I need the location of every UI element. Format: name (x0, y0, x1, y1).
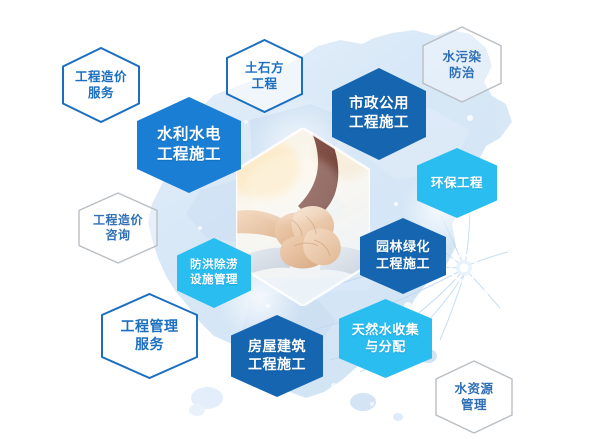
infographic-canvas: 工程造价 服务土石方 工程水污染 防治市政公用 工程施工水利水电 工程施工环保工… (0, 0, 600, 439)
hexagon-municipal-public-works[interactable]: 市政公用 工程施工 (332, 68, 426, 160)
hexagon-engineering-cost-service[interactable]: 工程造价 服务 (63, 48, 139, 122)
hexagon-water-pollution-control[interactable]: 水污染 防治 (423, 27, 501, 102)
hexagon-landscaping-engineering[interactable]: 园林绿化 工程施工 (360, 218, 446, 294)
hexagon-label: 天然水收集 与分配 (348, 322, 424, 355)
hexagon-label: 环保工程 (427, 175, 487, 191)
hexagon-label: 房屋建筑 工程施工 (244, 338, 310, 374)
hexagon-engineering-cost-consulting[interactable]: 工程造价 咨询 (79, 193, 157, 263)
hexagon-water-conservancy-hydropower[interactable]: 水利水电 工程施工 (137, 97, 241, 193)
hexagon-label: 工程管理 服务 (117, 318, 183, 354)
hexagon-water-resource-management[interactable]: 水资源 管理 (436, 361, 512, 433)
hexagon-environmental-protection-engineering[interactable]: 环保工程 (417, 148, 497, 218)
hexagon-flood-drainage-facility-management[interactable]: 防洪除涝 设施管理 (177, 238, 251, 308)
hexagon-natural-water-collection-distribution[interactable]: 天然水收集 与分配 (339, 299, 432, 378)
hexagon-label: 水资源 管理 (450, 381, 497, 413)
hexagon-label: 工程造价 咨询 (89, 213, 147, 244)
hexagon-label: 园林绿化 工程施工 (372, 239, 434, 272)
hexagon-label: 土石方 工程 (241, 60, 288, 92)
hexagon-label: 水利水电 工程施工 (153, 125, 225, 165)
hexagon-label: 市政公用 工程施工 (345, 95, 413, 132)
hexagon-label: 水污染 防治 (438, 49, 485, 81)
hexagon-label: 工程造价 服务 (71, 69, 131, 101)
hexagon-label: 防洪除涝 设施管理 (186, 258, 242, 287)
hexagon-building-construction-engineering[interactable]: 房屋建筑 工程施工 (231, 315, 323, 397)
